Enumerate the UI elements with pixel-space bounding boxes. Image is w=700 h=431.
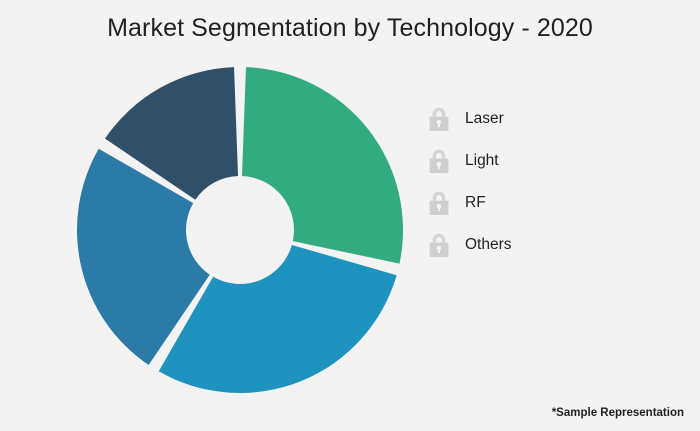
donut-slice-group: LaserLightRFOthers [77, 67, 403, 393]
legend-item-others[interactable]: Others [426, 224, 606, 266]
chart-canvas: Market Segmentation by Technology - 2020… [0, 0, 700, 431]
legend-item-label: Others [465, 237, 512, 253]
legend-item-light[interactable]: Light [426, 140, 606, 182]
legend-item-label: Light [465, 153, 499, 169]
lock-icon [426, 189, 452, 217]
legend-item-rf[interactable]: RF [426, 182, 606, 224]
legend-item-label: Laser [465, 111, 504, 127]
donut-chart-svg: LaserLightRFOthers [72, 62, 408, 398]
legend-item-laser[interactable]: Laser [426, 98, 606, 140]
lock-icon [426, 147, 452, 175]
donut-chart: LaserLightRFOthers [72, 62, 408, 398]
lock-icon [426, 105, 452, 133]
chart-legend: LaserLightRFOthers [426, 98, 606, 266]
page-title: Market Segmentation by Technology - 2020 [0, 14, 700, 43]
legend-item-label: RF [465, 195, 486, 211]
sample-representation-note: *Sample Representation [552, 407, 684, 419]
donut-slice-laser[interactable]: Laser [242, 67, 403, 264]
lock-icon [426, 231, 452, 259]
